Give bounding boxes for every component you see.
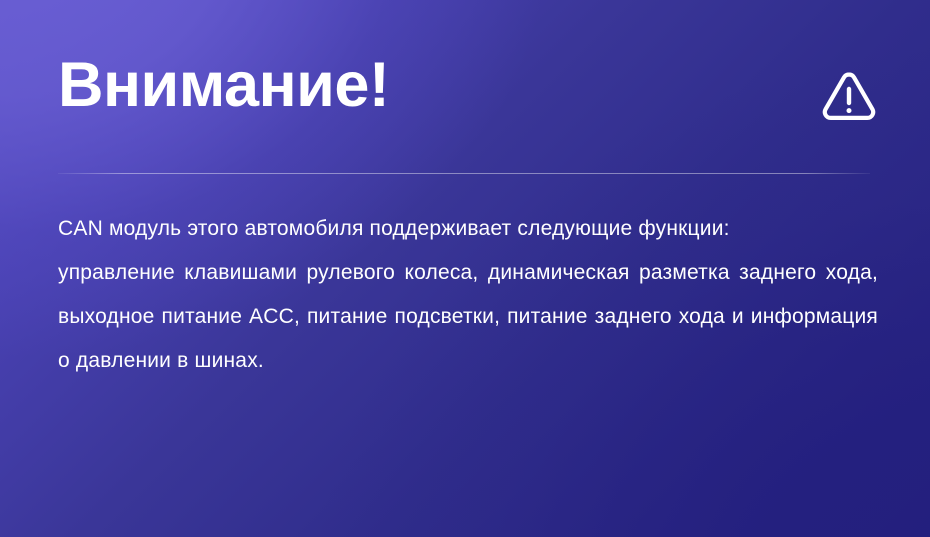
header-divider bbox=[58, 173, 870, 174]
banner-body: CAN модуль этого автомобиля поддерживает… bbox=[58, 207, 878, 383]
body-paragraph-2: управление клавишами рулевого колеса, ди… bbox=[58, 251, 878, 383]
page-title: Внимание! bbox=[58, 48, 389, 122]
body-paragraph-1: CAN модуль этого автомобиля поддерживает… bbox=[58, 207, 878, 251]
warning-banner: Внимание! CAN модуль этого автомобиля по… bbox=[0, 0, 930, 537]
banner-header: Внимание! bbox=[58, 48, 878, 148]
warning-triangle-icon bbox=[820, 68, 878, 122]
